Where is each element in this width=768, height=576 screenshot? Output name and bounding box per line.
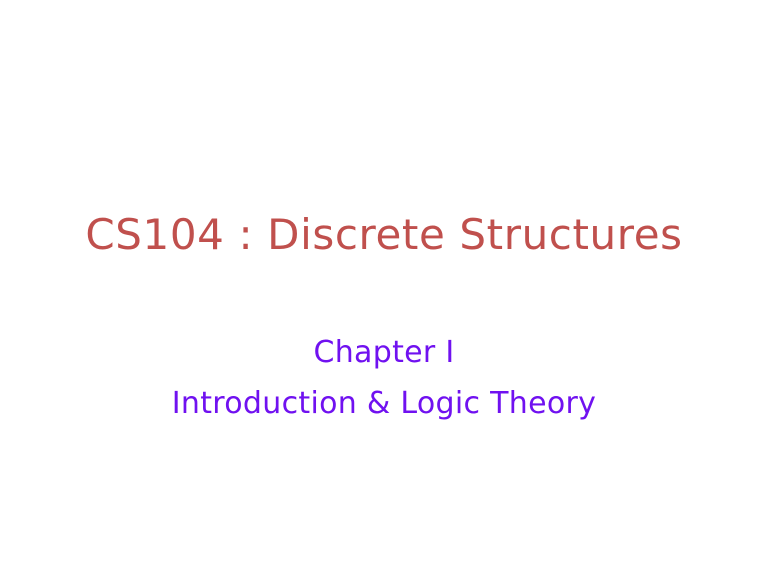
subtitle-line-topic: Introduction & Logic Theory	[0, 378, 768, 429]
title-block: CS104 : Discrete Structures	[0, 208, 768, 262]
page-title: CS104 : Discrete Structures	[0, 208, 768, 262]
subtitle-line-chapter: Chapter I	[0, 327, 768, 378]
subtitle-block: Chapter I Introduction & Logic Theory	[0, 327, 768, 429]
presentation-slide: CS104 : Discrete Structures Chapter I In…	[0, 0, 768, 576]
